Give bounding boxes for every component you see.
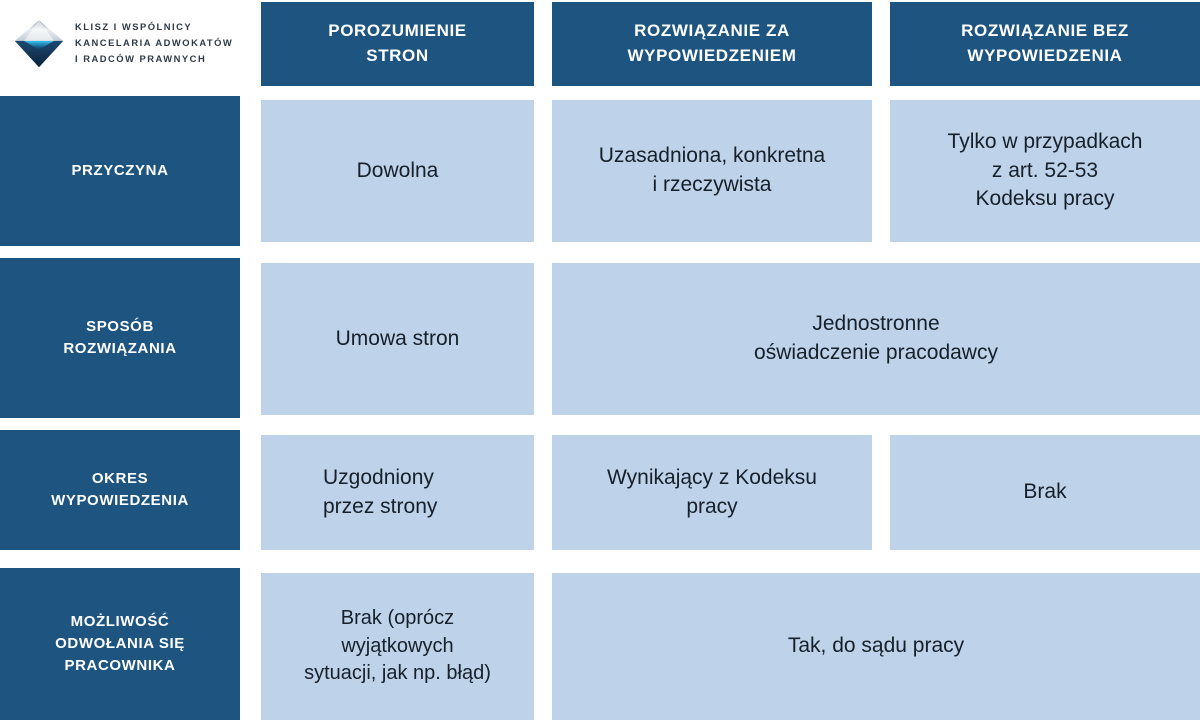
header-line-1: POROZUMIENIE <box>328 21 467 40</box>
cell-line-2: z art. 52-53 <box>992 159 1098 182</box>
cell-odwolanie-porozumienie: Brak (oprócz wyjątkowych sytuacji, jak n… <box>261 573 534 720</box>
cell-odwolanie-wypowiedzenie-merged: Tak, do sądu pracy <box>552 573 1200 720</box>
cell-line-1: Jednostronne <box>812 312 939 335</box>
logo-line-1: KLISZ I WSPÓLNICY <box>75 19 233 35</box>
comparison-table: KLISZ I WSPÓLNICY KANCELARIA ADWOKATÓW I… <box>0 0 1200 720</box>
cell-line-2: oświadczenie pracodawcy <box>754 341 998 364</box>
row-header-mozliwosc-odwolania: MOŻLIWOŚĆ ODWOŁANIA SIĘ PRACOWNIKA <box>0 568 240 720</box>
cell-okres-porozumienie: Uzgodniony przez strony <box>261 435 534 550</box>
cell-line-1: Umowa stron <box>336 327 460 350</box>
cell-przyczyna-bez-wypowiedzenia: Tylko w przypadkach z art. 52-53 Kodeksu… <box>890 100 1200 242</box>
cell-line-1: Wynikający z Kodeksu <box>607 466 817 489</box>
row-header-line-1: MOŻLIWOŚĆ <box>71 613 170 630</box>
cell-line-2: i rzeczywista <box>652 173 771 196</box>
cell-line-1: Brak <box>1023 480 1066 503</box>
cell-okres-wypowiedzenie: Wynikający z Kodeksu pracy <box>552 435 872 550</box>
column-header-rozwiazanie-za-wypowiedzeniem: ROZWIĄZANIE ZA WYPOWIEDZENIEM <box>552 2 872 86</box>
row-header-line-2: ROZWIĄZANIA <box>63 340 176 357</box>
cell-line-1: Dowolna <box>357 159 439 182</box>
logo-wordmark: KLISZ I WSPÓLNICY KANCELARIA ADWOKATÓW I… <box>75 19 233 68</box>
diamond-gem-icon <box>12 16 66 70</box>
row-header-sposob-rozwiazania: SPOSÓB ROZWIĄZANIA <box>0 258 240 418</box>
header-line-2: WYPOWIEDZENIEM <box>628 46 797 65</box>
cell-line-1: Tak, do sądu pracy <box>788 634 964 657</box>
cell-line-1: Tylko w przypadkach <box>948 130 1143 153</box>
row-header-line-2: WYPOWIEDZENIA <box>51 492 189 509</box>
row-header-line-1: SPOSÓB <box>86 318 154 335</box>
cell-line-1: Uzasadniona, konkretna <box>599 144 825 167</box>
cell-przyczyna-porozumienie: Dowolna <box>261 100 534 242</box>
header-line-1: ROZWIĄZANIE BEZ <box>961 21 1129 40</box>
column-header-rozwiazanie-bez-wypowiedzenia: ROZWIĄZANIE BEZ WYPOWIEDZENIA <box>890 2 1200 86</box>
cell-okres-bez-wypowiedzenia: Brak <box>890 435 1200 550</box>
row-header-line-2: ODWOŁANIA SIĘ <box>55 635 185 652</box>
cell-line-2: wyjątkowych <box>341 635 453 657</box>
company-logo: KLISZ I WSPÓLNICY KANCELARIA ADWOKATÓW I… <box>0 0 252 86</box>
row-header-line-1: OKRES <box>92 470 148 487</box>
cell-line-1: Uzgodniony <box>323 466 434 489</box>
row-header-przyczyna: PRZYCZYNA <box>0 96 240 246</box>
row-header-okres-wypowiedzenia: OKRES WYPOWIEDZENIA <box>0 430 240 550</box>
header-line-2: STRON <box>366 46 429 65</box>
cell-line-2: przez strony <box>323 495 437 518</box>
cell-przyczyna-wypowiedzenie: Uzasadniona, konkretna i rzeczywista <box>552 100 872 242</box>
logo-line-3: I RADCÓW PRAWNYCH <box>75 51 233 67</box>
cell-sposob-porozumienie: Umowa stron <box>261 263 534 415</box>
cell-sposob-wypowiedzenie-merged: Jednostronne oświadczenie pracodawcy <box>552 263 1200 415</box>
cell-line-1: Brak (oprócz <box>341 607 454 629</box>
row-header-label: PRZYCZYNA <box>71 162 168 179</box>
cell-line-2: pracy <box>686 495 737 518</box>
cell-line-3: sytuacji, jak np. błąd) <box>304 662 491 684</box>
cell-line-3: Kodeksu pracy <box>976 187 1115 210</box>
header-line-1: ROZWIĄZANIE ZA <box>634 21 790 40</box>
row-header-line-3: PRACOWNIKA <box>65 657 176 674</box>
header-line-2: WYPOWIEDZENIA <box>967 46 1122 65</box>
column-header-porozumienie-stron: POROZUMIENIE STRON <box>261 2 534 86</box>
logo-line-2: KANCELARIA ADWOKATÓW <box>75 35 233 51</box>
